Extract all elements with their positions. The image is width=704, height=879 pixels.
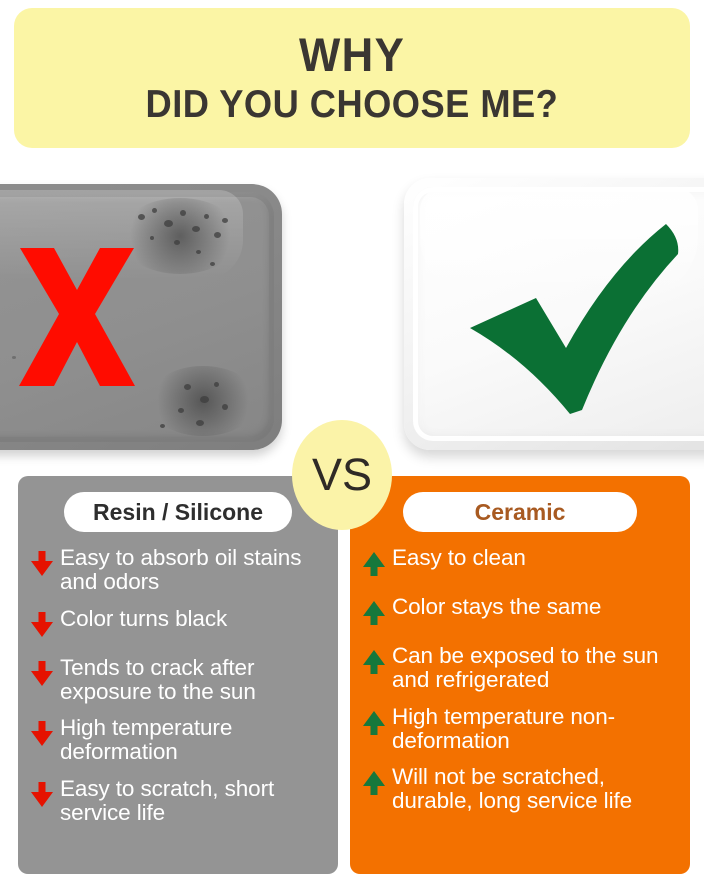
list-item: High temperature deformation xyxy=(30,716,326,764)
list-item: Easy to scratch, short service life xyxy=(30,777,326,825)
arrow-down-icon xyxy=(30,656,60,692)
comparison-panels: Resin / Silicone Easy to absorb oil stai… xyxy=(0,476,704,874)
feature-text: Easy to absorb oil stains and odors xyxy=(60,546,326,594)
stain-speck xyxy=(210,262,215,266)
stain-speck xyxy=(150,236,154,240)
feature-text: Can be exposed to the sun and refrigerat… xyxy=(392,644,678,692)
resin-silicone-tray-image xyxy=(0,184,282,450)
stain-speck xyxy=(214,232,221,238)
list-item: Easy to clean xyxy=(362,546,678,582)
stain-speck xyxy=(184,384,191,390)
stain-speck xyxy=(196,250,201,254)
arrow-up-icon xyxy=(362,705,392,741)
stain-speck xyxy=(222,404,228,410)
stain-speck xyxy=(204,214,209,219)
product-comparison-hero: VS xyxy=(0,170,704,462)
feature-text: Easy to clean xyxy=(392,546,526,570)
header-banner: WHY DID YOU CHOOSE ME? xyxy=(14,8,690,148)
badge-ceramic: Ceramic xyxy=(403,492,637,532)
ceramic-tray-image xyxy=(404,178,704,450)
feature-text: Will not be scratched, durable, long ser… xyxy=(392,765,678,813)
stain-speck xyxy=(160,424,165,428)
badge-label: Resin / Silicone xyxy=(93,499,263,526)
feature-text: High temperature non-deformation xyxy=(392,705,678,753)
list-item: High temperature non-deformation xyxy=(362,705,678,753)
vs-label: VS xyxy=(312,449,372,501)
feature-text: Color turns black xyxy=(60,607,227,631)
arrow-down-icon xyxy=(30,716,60,752)
stain-speck xyxy=(174,240,180,245)
stain-speck xyxy=(138,214,145,220)
feature-text: Color stays the same xyxy=(392,595,601,619)
arrow-up-icon xyxy=(362,595,392,631)
feature-list-ceramic: Easy to clean Color stays the same Can b… xyxy=(358,546,682,813)
feature-text: High temperature deformation xyxy=(60,716,326,764)
arrow-up-icon xyxy=(362,546,392,582)
vs-badge: VS xyxy=(292,420,392,530)
list-item: Easy to absorb oil stains and odors xyxy=(30,546,326,594)
arrow-down-icon xyxy=(30,607,60,643)
panel-resin-silicone: Resin / Silicone Easy to absorb oil stai… xyxy=(18,476,338,874)
badge-label: Ceramic xyxy=(475,499,566,526)
list-item: Color stays the same xyxy=(362,595,678,631)
red-x-icon xyxy=(14,248,140,386)
page-title-line1: WHY xyxy=(299,31,405,79)
list-item: Will not be scratched, durable, long ser… xyxy=(362,765,678,813)
stain-speck xyxy=(164,220,173,227)
stain-speck xyxy=(214,382,219,387)
page-title-line2: DID YOU CHOOSE ME? xyxy=(146,85,559,126)
badge-resin-silicone: Resin / Silicone xyxy=(64,492,292,532)
arrow-up-icon xyxy=(362,765,392,801)
stain-speck xyxy=(178,408,184,413)
list-item: Can be exposed to the sun and refrigerat… xyxy=(362,644,678,692)
stain-speck xyxy=(152,208,157,213)
feature-text: Tends to crack after exposure to the sun xyxy=(60,656,326,704)
panel-ceramic: Ceramic Easy to clean Color stays the sa… xyxy=(350,476,690,874)
arrow-down-icon xyxy=(30,777,60,813)
list-item: Tends to crack after exposure to the sun xyxy=(30,656,326,704)
stain-speck xyxy=(192,226,200,232)
stain-speck xyxy=(180,210,186,216)
stain-speck xyxy=(200,396,209,403)
stain-speck xyxy=(222,218,228,223)
arrow-up-icon xyxy=(362,644,392,680)
arrow-down-icon xyxy=(30,546,60,582)
green-check-icon xyxy=(470,224,680,414)
stain-speck xyxy=(196,420,204,426)
list-item: Color turns black xyxy=(30,607,326,643)
feature-list-resin-silicone: Easy to absorb oil stains and odors Colo… xyxy=(26,546,330,825)
feature-text: Easy to scratch, short service life xyxy=(60,777,326,825)
